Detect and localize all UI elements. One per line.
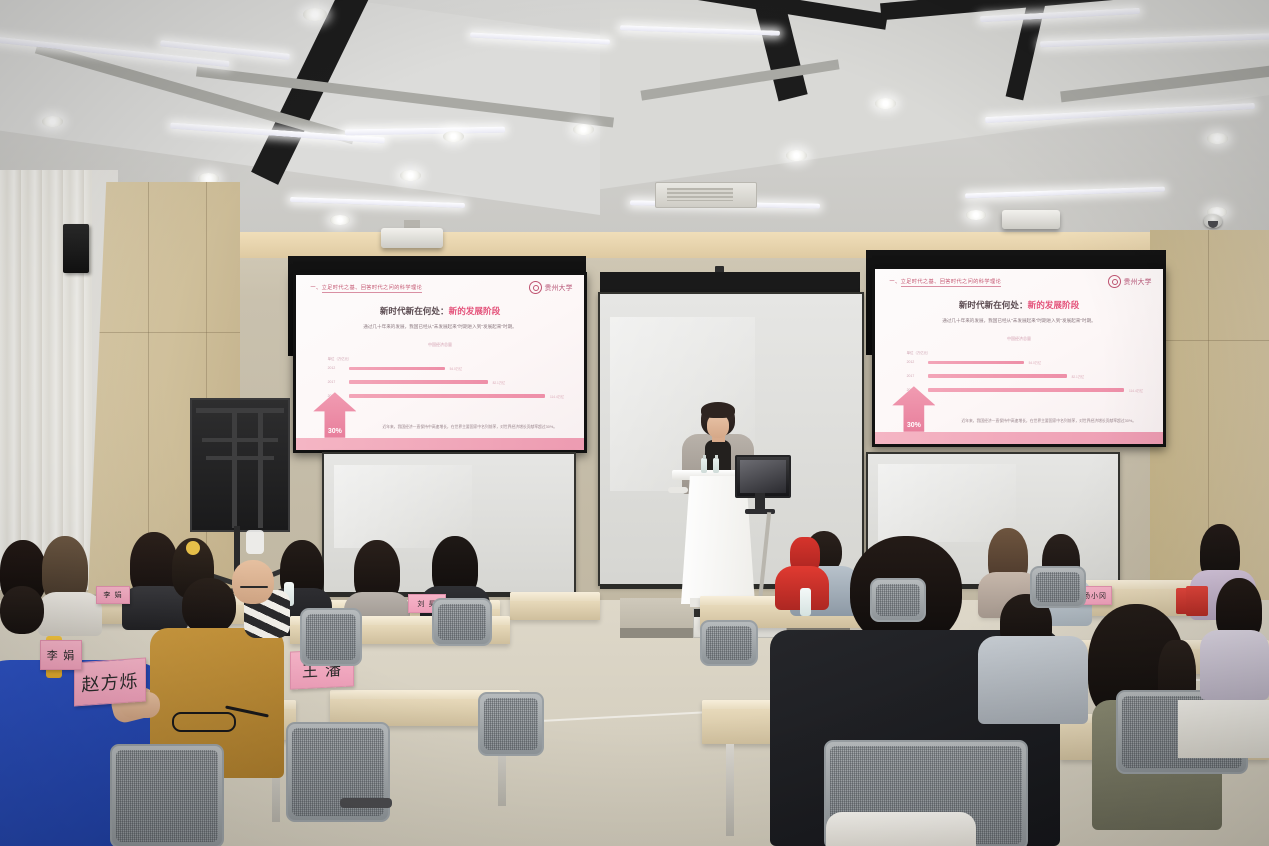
chair-far-5 [478, 692, 544, 756]
desk-panel [510, 601, 600, 620]
chair-mesh [116, 750, 218, 842]
whiteboard-glare-right [878, 464, 1016, 542]
name-card-l-back: 李 娟 [96, 586, 130, 604]
seal-icon [529, 281, 542, 294]
chair-far-3 [1030, 566, 1086, 608]
slide-right: 一、立足时代之基、回答时代之问的科学理论 贵州大学 新时代新在何处：新的发展阶段… [875, 269, 1163, 444]
chart-cat-1-right: 2017 [907, 374, 915, 378]
chart-caption: 中国经济总量 [296, 342, 584, 348]
chart-caption-right: 中国经济总量 [875, 336, 1163, 342]
panel-seam-3 [206, 182, 207, 594]
downlight-7 [786, 150, 807, 161]
name-card-front-1: 赵方烁 [74, 657, 146, 706]
downlight-11 [966, 210, 986, 220]
slide-subtitle: 通过几十年来的发展，我国已经从"未发展起来"时期进入到"发展起来"时期。 [296, 324, 584, 330]
chart-bar-2-right [928, 388, 1124, 391]
downlight-5 [443, 131, 464, 142]
audience-body-hoodie [978, 636, 1088, 724]
audience-head-striped [232, 560, 274, 604]
chair-caster-base [340, 798, 392, 808]
university-logo: 贵州大学 [529, 281, 572, 294]
chart-cat-0: 2012 [328, 366, 336, 370]
chart-unit-label-right: 单位（万亿元） [907, 350, 931, 355]
downlight-6 [573, 124, 594, 135]
growth-arrow: 30% [313, 392, 356, 438]
arrow-badge-text-right: 30% [892, 422, 935, 429]
chair-mesh [438, 604, 486, 640]
ceiling-ac-cassette [655, 182, 757, 208]
eyeglasses-on-desk [172, 712, 236, 732]
paper-sheet [1178, 700, 1269, 758]
downlight-4 [400, 170, 421, 181]
university-name: 贵州大学 [544, 283, 572, 293]
downlight-2 [42, 116, 63, 127]
chair-mesh [1036, 572, 1080, 602]
slide-title-right: 新时代新在何处：新的发展阶段 [875, 299, 1163, 311]
downlight-8 [875, 98, 896, 109]
audience-body-r7 [1200, 630, 1269, 700]
chart-bar-1 [349, 380, 488, 383]
arrow-badge-text: 30% [313, 428, 356, 435]
right-panel-seam [1150, 340, 1269, 341]
desk-l3 [510, 592, 600, 620]
chair-mesh [876, 584, 920, 616]
slide-bar-chart-right: 单位（万亿元） 2012 54.0万亿 2017 82.1万亿 2021 114… [907, 350, 1146, 399]
slide-breadcrumb: 一、立足时代之基、回答时代之问的科学理论 [310, 284, 422, 291]
audience-body-l2 [38, 592, 102, 636]
tv-bracket-mid [202, 438, 278, 442]
chart-value-1-right: 82.1万亿 [1072, 374, 1085, 379]
panel-seam-1 [88, 332, 240, 333]
chart-bar-1-right [928, 374, 1067, 377]
slide-title-highlight: 新的发展阶段 [449, 306, 501, 316]
downlight-1 [303, 8, 327, 21]
slide-left: 一、立足时代之基、回答时代之问的科学理论 贵州大学 新时代新在何处：新的发展阶段… [296, 275, 584, 450]
center-recess [600, 272, 860, 294]
seal-icon-right [1108, 275, 1121, 288]
water-bottle-2 [713, 458, 719, 473]
chair-far-1 [700, 620, 758, 666]
confidence-monitor [735, 455, 791, 498]
monitor-screen [740, 460, 786, 493]
slide-breadcrumb-right: 一、立足时代之基、回答时代之问的科学理论 [889, 278, 1001, 285]
slide-title-main: 新时代新在何处： [380, 306, 449, 316]
chart-cat-1: 2017 [328, 380, 336, 384]
chart-bar-2 [349, 394, 545, 397]
slide-title: 新时代新在何处：新的发展阶段 [296, 305, 584, 317]
growth-arrow-right: 30% [892, 386, 935, 432]
slide-subtitle-right: 通过几十年来的发展，我国已经从"未发展起来"时期进入到"发展起来"时期。 [875, 318, 1163, 324]
chair-mesh [484, 698, 538, 750]
chart-value-2-right: 114.4万亿 [1129, 388, 1143, 393]
strip-light-10 [290, 197, 465, 208]
tv-bracket-low [206, 456, 274, 460]
ceiling-projector-left [381, 228, 443, 248]
name-card-front-3: 李 娟 [40, 640, 82, 670]
audience-head-blue [0, 586, 44, 634]
chair-mid-l1 [300, 608, 362, 666]
slide-note: 近年来，我国经济一直保持中高速增长，在世界主要国家中名列前茅，对世界经济增长贡献… [382, 424, 566, 430]
slide-footer-bar [296, 438, 584, 450]
chart-unit-label: 单位（万亿元） [328, 356, 352, 361]
dome-camera [1204, 214, 1222, 228]
desk-leg-r1 [726, 744, 734, 836]
chart-bar-0 [349, 367, 445, 370]
desk-surface [510, 592, 600, 601]
presenter-hair-front [701, 402, 735, 418]
strip-light-12 [965, 187, 1165, 199]
audience-head-tan [182, 578, 236, 634]
lecture-hall-photo: 一、立足时代之基、回答时代之问的科学理论 贵州大学 新时代新在何处：新的发展阶段… [0, 0, 1269, 846]
wall-speaker [63, 224, 89, 273]
slide-footer-bar-right [875, 432, 1163, 444]
slide-section-number-right: 一、 [889, 279, 900, 285]
tv-bracket-top [196, 408, 284, 413]
water-bottle-4 [800, 588, 811, 616]
left-projection-screen: 一、立足时代之基、回答时代之问的科学理论 贵州大学 新时代新在何处：新的发展阶段… [293, 272, 587, 453]
chair-front-l1 [110, 744, 224, 846]
slide-section-number: 一、 [310, 285, 321, 291]
chart-value-0-right: 54.0万亿 [1029, 360, 1042, 365]
slide-section-title-right: 立足时代之基、回答时代之问的科学理论 [901, 279, 1002, 287]
slide-title-main-right: 新时代新在何处： [959, 300, 1028, 310]
chair-far-2 [870, 578, 926, 622]
university-logo-right: 贵州大学 [1108, 275, 1151, 288]
tv-post-1 [232, 410, 237, 528]
white-bag [826, 812, 976, 846]
chart-cat-0-right: 2012 [907, 360, 915, 364]
chart-value-1: 82.1万亿 [493, 380, 506, 385]
left-wood-panel [88, 182, 240, 594]
downlight-9 [1207, 133, 1228, 144]
slide-note-right: 近年来，我国经济一直保持中高速增长，在世界主要国家中名列前茅，对世界经济增长贡献… [961, 418, 1145, 424]
ac-grille [667, 188, 733, 201]
microphone [668, 487, 688, 493]
chair-mesh [706, 626, 752, 660]
water-bottle-1 [701, 458, 707, 473]
glasses-worn [240, 586, 268, 588]
thermos-2 [1186, 586, 1208, 616]
chart-value-2: 114.4万亿 [550, 394, 564, 399]
slide-section-title: 立足时代之基、回答时代之问的科学理论 [322, 285, 423, 293]
chair-far-4 [432, 598, 492, 646]
right-projection-screen: 一、立足时代之基、回答时代之问的科学理论 贵州大学 新时代新在何处：新的发展阶段… [872, 266, 1166, 447]
chair-mesh [306, 614, 356, 660]
hair-tie [186, 541, 200, 555]
slide-title-highlight-right: 新的发展阶段 [1028, 300, 1080, 310]
university-name-right: 贵州大学 [1123, 277, 1151, 287]
face-mask [246, 530, 264, 554]
ceiling-projector-right [1002, 210, 1060, 229]
chart-bar-0-right [928, 361, 1024, 364]
mobile-tv-stand [190, 398, 290, 532]
chart-value-0: 54.0万亿 [450, 366, 463, 371]
slide-bar-chart: 单位（万亿元） 2012 54.0万亿 2017 82.1万亿 2021 114… [328, 356, 567, 405]
tv-post-2 [258, 410, 263, 528]
downlight-12 [330, 215, 350, 225]
